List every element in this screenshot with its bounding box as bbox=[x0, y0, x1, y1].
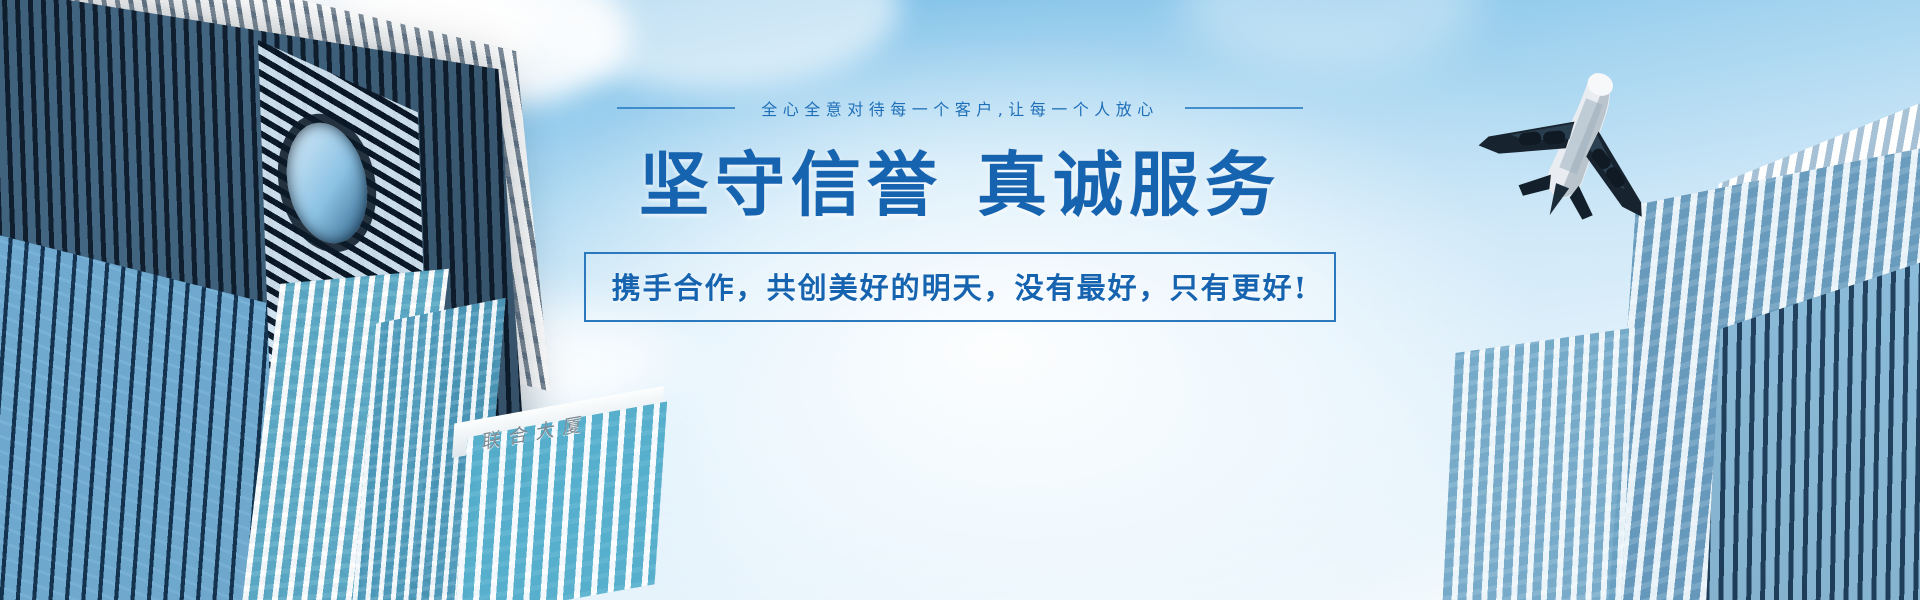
cloud-decoration bbox=[520, 0, 900, 90]
building-midrise-right bbox=[1440, 327, 1635, 600]
decorative-rule-right-icon bbox=[1185, 107, 1303, 109]
cloud-decoration bbox=[430, 340, 630, 410]
cloud-decoration bbox=[330, 0, 630, 110]
banner-subtitle-box: 携手合作，共创美好的明天，没有最好，只有更好! bbox=[584, 252, 1337, 322]
eyebrow-row: 全心全意对待每一个客户,让每一个人放心 bbox=[617, 96, 1303, 120]
headline-part-right: 真诚服务 bbox=[977, 143, 1281, 226]
banner-subtitle-text: 携手合作，共创美好的明天，没有最好，只有更好! bbox=[612, 265, 1309, 307]
cloud-decoration bbox=[0, 0, 290, 80]
cloud-decoration bbox=[1180, 0, 1480, 70]
hero-banner: 联合大厦 bbox=[0, 0, 1920, 600]
banner-eyebrow-text: 全心全意对待每一个客户,让每一个人放心 bbox=[761, 96, 1159, 120]
building-sign-label: 联合大厦 bbox=[481, 408, 591, 455]
decorative-rule-left-icon bbox=[617, 107, 735, 109]
banner-content: 全心全意对待每一个客户,让每一个人放心 坚守信誉真诚服务 携手合作，共创美好的明… bbox=[0, 96, 1920, 322]
headline-part-left: 坚守信誉 bbox=[639, 143, 943, 226]
banner-headline: 坚守信誉真诚服务 bbox=[639, 146, 1281, 224]
